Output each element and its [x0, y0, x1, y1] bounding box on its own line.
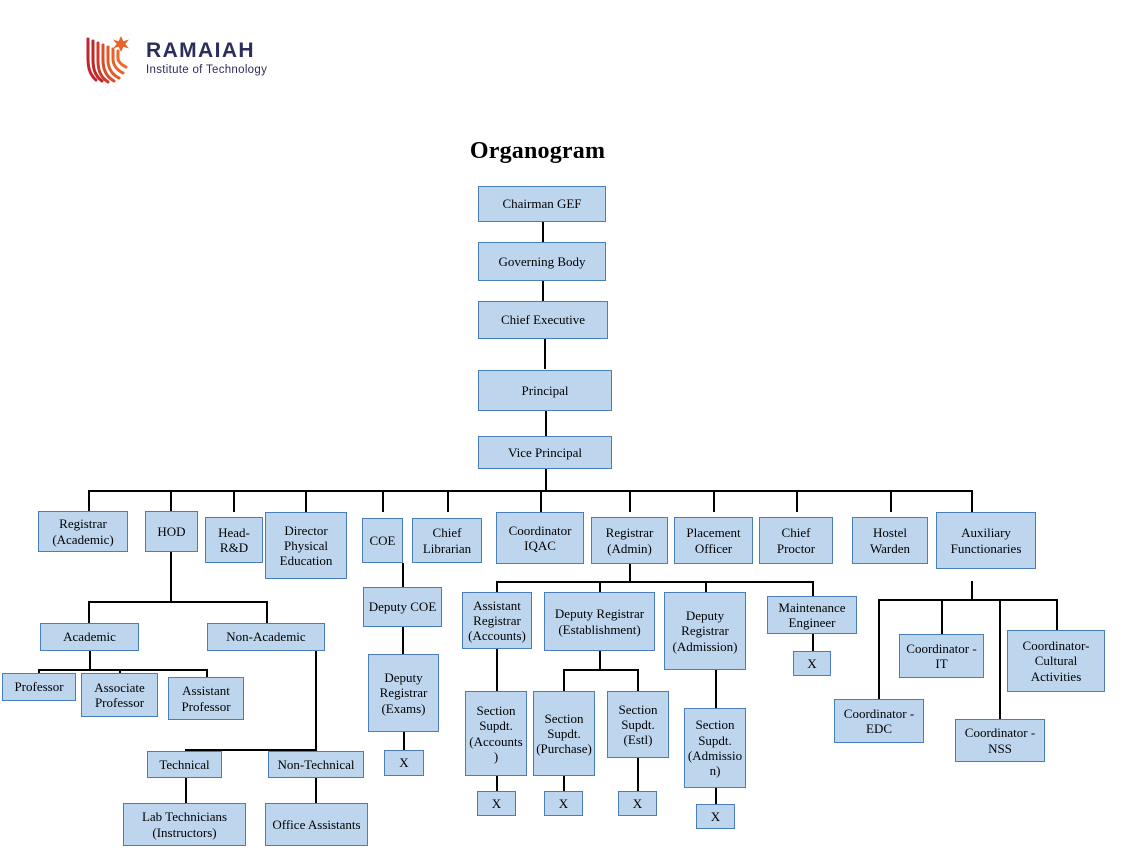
- node-label: Registrar (Admin): [594, 525, 665, 556]
- drop-hod: [170, 490, 172, 512]
- drop-coord-nss: [999, 599, 1001, 719]
- node-technical[interactable]: Technical: [147, 751, 222, 778]
- node-label: Chief Proctor: [762, 525, 830, 556]
- node-registrar-academic[interactable]: Registrar (Academic): [38, 511, 128, 552]
- bus-hod: [88, 601, 268, 603]
- node-label: Academic: [43, 629, 136, 644]
- node-label: Head-R&D: [208, 525, 260, 556]
- node-label: COE: [365, 533, 400, 548]
- node-label: Chief Executive: [481, 312, 605, 327]
- node-label: X: [387, 755, 421, 770]
- drop-ss-estl: [637, 669, 639, 691]
- institution-logo: RAMAIAH Institute of Technology: [84, 28, 314, 88]
- drop-maintenance-engineer: [812, 581, 814, 596]
- node-academic[interactable]: Academic: [40, 623, 139, 651]
- connector-academic-bus: [89, 651, 91, 670]
- drop-coord-edc: [878, 599, 880, 699]
- drop-registrar-academic: [88, 490, 90, 512]
- connector-auxiliary-bus: [971, 581, 973, 600]
- node-label: Director Physical Education: [268, 523, 344, 569]
- node-lab-technicians[interactable]: Lab Technicians (Instructors): [123, 803, 246, 846]
- node-label: Assistant Registrar (Accounts): [465, 598, 529, 644]
- node-coordinator-cultural-activities[interactable]: Coordinator-Cultural Activities: [1007, 630, 1105, 692]
- drop-ss-purchase: [563, 669, 565, 691]
- connector-hod-bus: [170, 551, 172, 602]
- drop-chief-proctor: [796, 490, 798, 512]
- node-coordinator-edc[interactable]: Coordinator -EDC: [834, 699, 924, 743]
- node-non-academic[interactable]: Non-Academic: [207, 623, 325, 651]
- node-label: Principal: [481, 383, 609, 398]
- node-label: Lab Technicians (Instructors): [126, 809, 243, 840]
- node-professor[interactable]: Professor: [2, 673, 76, 701]
- drop-coord-cultural: [1056, 599, 1058, 630]
- node-label: Chief Librarian: [415, 525, 479, 556]
- node-label: Coordinator -EDC: [837, 706, 921, 737]
- connector-estab-bus: [599, 651, 601, 671]
- connector-nontechnical-office: [315, 777, 317, 804]
- node-label: Associate Professor: [84, 680, 155, 711]
- drop-dep-reg-estab: [599, 581, 601, 592]
- node-x-exams[interactable]: X: [384, 750, 424, 776]
- node-label: Office Assistants: [268, 817, 365, 832]
- page-title: Organogram: [0, 138, 1075, 165]
- node-hostel-warden[interactable]: Hostel Warden: [852, 517, 928, 564]
- node-non-technical[interactable]: Non-Technical: [268, 751, 364, 778]
- connector-chief-principal: [544, 338, 546, 369]
- node-label: Coordinator -NSS: [958, 725, 1042, 756]
- node-director-physical-education[interactable]: Director Physical Education: [265, 512, 347, 579]
- node-chief-librarian[interactable]: Chief Librarian: [412, 518, 482, 563]
- node-auxiliary-functionaries[interactable]: Auxiliary Functionaries: [936, 512, 1036, 569]
- node-principal[interactable]: Principal: [478, 370, 612, 411]
- drop-registrar-admin: [629, 490, 631, 512]
- drop-academic: [88, 601, 90, 624]
- drop-director-pe: [305, 490, 307, 512]
- node-label: Deputy Registrar (Establishment): [547, 606, 652, 637]
- connector-exams-x: [403, 732, 405, 750]
- node-label: Chairman GEF: [481, 196, 603, 211]
- node-deputy-registrar-exams[interactable]: Deputy Registrar (Exams): [368, 654, 439, 732]
- connector-registrar-admin-bus: [629, 563, 631, 582]
- node-label: Coordinator IQAC: [499, 523, 581, 554]
- node-label: Governing Body: [481, 254, 603, 269]
- node-label: Assistant Professor: [171, 683, 241, 714]
- node-coordinator-nss[interactable]: Coordinator -NSS: [955, 719, 1045, 762]
- drop-coordinator-iqac: [540, 490, 542, 512]
- node-label: Registrar (Academic): [41, 516, 125, 547]
- drop-head-rnd: [233, 490, 235, 512]
- node-x-admission[interactable]: X: [696, 804, 735, 829]
- node-label: Section Supdt. (Estl): [610, 702, 666, 748]
- node-office-assistants[interactable]: Office Assistants: [265, 803, 368, 846]
- connector-ss-accounts-x: [496, 776, 498, 791]
- node-label: Coordinator-Cultural Activities: [1010, 638, 1102, 684]
- bus-dep-reg-estab: [563, 669, 637, 671]
- drop-coe: [382, 490, 384, 512]
- node-label: X: [547, 796, 580, 811]
- node-x-purchase[interactable]: X: [544, 791, 583, 816]
- node-label: Section Supdt. (Purchase): [536, 711, 592, 757]
- node-label: X: [621, 796, 654, 811]
- node-x-accounts[interactable]: X: [477, 791, 516, 816]
- connector-ss-admission-x: [715, 788, 717, 804]
- node-maintenance-engineer[interactable]: Maintenance Engineer: [767, 596, 857, 634]
- node-deputy-registrar-admission[interactable]: Deputy Registrar (Admission): [664, 592, 746, 670]
- connector-vice-bus: [545, 468, 547, 491]
- node-vice-principal[interactable]: Vice Principal: [478, 436, 612, 469]
- node-section-supdt-purchase[interactable]: Section Supdt. (Purchase): [533, 691, 595, 776]
- node-label: Deputy Registrar (Exams): [371, 670, 436, 716]
- node-chief-executive[interactable]: Chief Executive: [478, 301, 608, 339]
- node-associate-professor[interactable]: Associate Professor: [81, 673, 158, 717]
- node-label: Deputy COE: [366, 599, 439, 614]
- node-x-maintenance[interactable]: X: [793, 651, 831, 676]
- bus-vice-principal: [88, 490, 972, 492]
- node-head-rnd[interactable]: Head-R&D: [205, 517, 263, 563]
- drop-auxiliary: [971, 490, 973, 512]
- connector-non-academic-bus: [315, 651, 317, 750]
- drop-hostel-warden: [890, 490, 892, 512]
- connector-chairman-governing: [542, 221, 544, 242]
- bus-registrar-admin: [496, 581, 813, 583]
- organogram-page: RAMAIAH Institute of Technology Organogr…: [0, 0, 1130, 865]
- node-label: Section Supdt. (Accounts): [468, 703, 524, 764]
- connector-ss-estl-x: [637, 758, 639, 791]
- connector-ss-purchase-x: [563, 776, 565, 791]
- node-deputy-registrar-establishment[interactable]: Deputy Registrar (Establishment): [544, 592, 655, 651]
- node-deputy-coe[interactable]: Deputy COE: [363, 587, 442, 627]
- connector-asstreg-ss-accounts: [496, 649, 498, 691]
- drop-placement-officer: [713, 490, 715, 512]
- node-label: Deputy Registrar (Admission): [667, 608, 743, 654]
- bus-academic: [38, 669, 208, 671]
- node-assistant-professor[interactable]: Assistant Professor: [168, 677, 244, 720]
- node-label: Non-Academic: [210, 629, 322, 644]
- connector-admission-ss: [715, 670, 717, 708]
- connector-technical-lab: [185, 777, 187, 804]
- node-label: Non-Technical: [271, 757, 361, 772]
- node-label: X: [699, 809, 732, 824]
- node-label: X: [796, 656, 828, 671]
- node-label: HOD: [148, 524, 195, 539]
- node-chairman-gef[interactable]: Chairman GEF: [478, 186, 606, 222]
- drop-dep-reg-admission: [705, 581, 707, 592]
- node-section-supdt-admission[interactable]: Section Supdt. (Admission): [684, 708, 746, 788]
- node-section-supdt-estl[interactable]: Section Supdt. (Estl): [607, 691, 669, 758]
- connector-governing-chief: [542, 280, 544, 301]
- connector-coe-deputy: [402, 563, 404, 587]
- node-governing-body[interactable]: Governing Body: [478, 242, 606, 281]
- node-label: Vice Principal: [481, 445, 609, 460]
- node-label: Technical: [150, 757, 219, 772]
- ramaiah-shield-icon: [84, 30, 136, 86]
- node-label: Hostel Warden: [855, 525, 925, 556]
- drop-chief-librarian: [447, 490, 449, 512]
- node-label: Placement Officer: [677, 525, 750, 556]
- drop-non-academic: [266, 601, 268, 624]
- node-label: Maintenance Engineer: [770, 600, 854, 631]
- bus-auxiliary: [878, 599, 1058, 601]
- logo-institution-name: RAMAIAH: [146, 40, 267, 62]
- node-label: Auxiliary Functionaries: [939, 525, 1033, 556]
- connector-maint-x: [812, 634, 814, 651]
- node-coordinator-iqac[interactable]: Coordinator IQAC: [496, 512, 584, 564]
- logo-tagline: Institute of Technology: [146, 64, 267, 76]
- node-x-estl[interactable]: X: [618, 791, 657, 816]
- node-label: Coordinator -IT: [902, 641, 981, 672]
- node-coordinator-it[interactable]: Coordinator -IT: [899, 634, 984, 678]
- node-assistant-registrar-accounts[interactable]: Assistant Registrar (Accounts): [462, 592, 532, 649]
- connector-principal-vice: [545, 410, 547, 436]
- connector-deputy-coe-exams: [402, 627, 404, 654]
- drop-asst-reg-accounts: [496, 581, 498, 592]
- node-label: X: [480, 796, 513, 811]
- node-hod[interactable]: HOD: [145, 511, 198, 552]
- node-registrar-admin[interactable]: Registrar (Admin): [591, 517, 668, 564]
- node-placement-officer[interactable]: Placement Officer: [674, 517, 753, 564]
- node-label: Professor: [5, 679, 73, 694]
- node-coe[interactable]: COE: [362, 518, 403, 563]
- node-section-supdt-accounts[interactable]: Section Supdt. (Accounts): [465, 691, 527, 776]
- node-label: Section Supdt. (Admission): [687, 717, 743, 778]
- drop-coord-it: [941, 599, 943, 634]
- node-chief-proctor[interactable]: Chief Proctor: [759, 517, 833, 564]
